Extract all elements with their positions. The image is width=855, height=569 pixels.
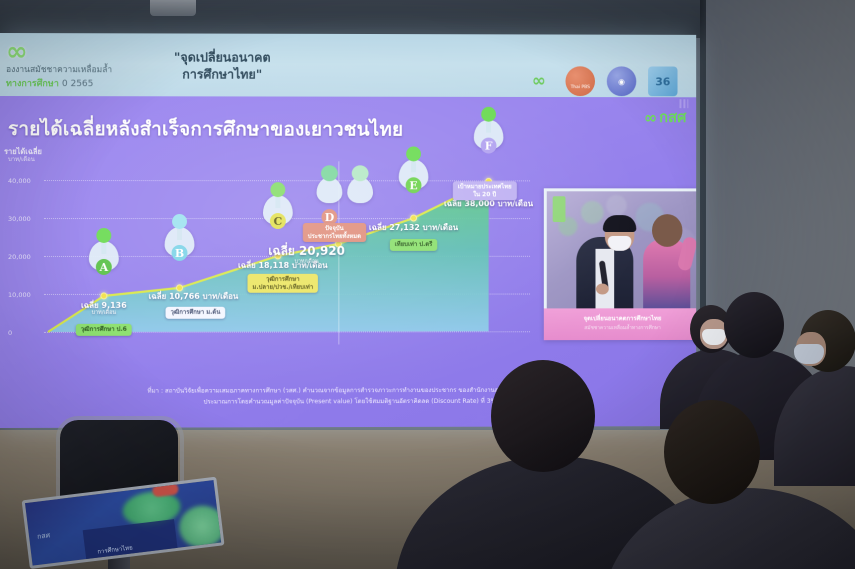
laptop-text-1: กสศ [37, 530, 51, 542]
eef-mark-icon: ◉ [618, 77, 625, 86]
avatar-C-neck [275, 197, 280, 208]
value-label-E: เฉลี่ย 27,132 บาท/เดือน [369, 223, 458, 232]
value-label-B-text: เฉลี่ย 10,766 บาท/เดือน [149, 292, 239, 301]
avatar-F-badge: F [481, 138, 497, 154]
education-tag-B: วุฒิการศึกษา ม.ต้น [166, 307, 226, 319]
partner-logo-row: ∞ กสศ Thai PBS ◉ กองทุนฯ 36 [524, 66, 677, 96]
value-label-F-text: เฉลี่ย 38,000 บาท/เดือน [444, 199, 533, 208]
avatar-B-badge: B [172, 245, 188, 261]
kosok-mark-icon: ∞ [532, 71, 546, 91]
pip-caption-line-2: สมัชชาความเหลื่อมล้ำทางการศึกษา [544, 324, 696, 332]
avatar-B-body: B [165, 227, 195, 257]
avatar-B-neck [177, 229, 182, 240]
avatar-A-badge: A [96, 259, 112, 275]
slide-title: รายได้เฉลี่ยหลังสำเร็จการศึกษาของเยาวชนไ… [8, 114, 403, 144]
partner-logo-eef: ◉ กองทุนฯ [607, 66, 636, 96]
foreground-head [491, 360, 595, 472]
avatar-D: D [317, 177, 343, 203]
avatar-C-body: C [263, 195, 293, 225]
avatar-F-body: F [474, 120, 504, 150]
avatar-D-body: D [317, 177, 343, 203]
slide-brand-text: กสศ [659, 105, 686, 129]
avatar-E-body: E [399, 159, 429, 189]
value-label-D-unit: บาท/เดือน [268, 259, 344, 265]
organizer-year: 0 2565 [62, 80, 93, 90]
avatar-E: E [399, 159, 429, 189]
value-label-A-text: เฉลี่ย 9,136 [81, 301, 127, 310]
pip-speaker-hair [603, 215, 636, 232]
audience-2-head [724, 292, 784, 358]
event-title-line-2: การศึกษาไทย" [118, 66, 327, 83]
avatar-A-neck [101, 243, 106, 254]
partner-logo-news360: 36 [648, 66, 677, 96]
education-tag-C: วุฒิการศึกษาม.ปลาย/ปวช./เทียบเท่า [247, 274, 318, 293]
chart-plot-area: A B C [44, 161, 530, 331]
avatar-D-head [321, 165, 338, 181]
slide-brand-logo: ∞ กสศ [644, 105, 686, 129]
pip-speaker-hand [596, 284, 609, 295]
avatar-D-partner [347, 177, 373, 203]
y-tick-0: 0 [8, 329, 12, 337]
data-point-B [176, 284, 183, 291]
avatar-C-badge: C [270, 213, 286, 229]
education-tag-F: เป้าหมายประเทศไทยใน 20 ปี [453, 181, 517, 200]
value-label-B: เฉลี่ย 10,766 บาท/เดือน [149, 292, 239, 301]
organizer-subject: ทางการศึกษา [6, 79, 59, 89]
avatar-A-head [96, 228, 111, 243]
conference-room-photo: ∞ องงานสมัชชาความเหลื่อมล้ำ ทางการศึกษา … [0, 0, 855, 569]
slide-brand-mark-icon: ∞ [644, 108, 656, 127]
projector-mount [150, 0, 196, 16]
laptop-slide-accent [152, 482, 179, 497]
pip-caption-line-1: จุดเปลี่ยนอนาคตการศึกษาไทย [544, 313, 696, 323]
pip-corner-tag [553, 196, 566, 222]
value-label-A-unit: บาท/เดือน [81, 310, 127, 316]
event-title-line-1: "จุดเปลี่ยนอนาคต [118, 49, 327, 66]
y-tick-40000: 40,000 [8, 177, 31, 185]
avatar-A-body: A [89, 241, 119, 271]
pip-caption-bar: จุดเปลี่ยนอนาคตการศึกษาไทย สมัชชาความเหล… [544, 308, 696, 340]
y-axis-title-unit: บาท/เดือน [4, 156, 42, 164]
avatar-C-head [270, 182, 285, 197]
data-point-A [100, 292, 107, 299]
partner-logo-thaipbs: Thai PBS [565, 66, 595, 96]
partner-label-thaipbs: Thai PBS [571, 85, 590, 90]
avatar-E-head [406, 146, 421, 161]
avatar-C: C [263, 195, 293, 225]
avatar-E-badge: E [406, 177, 422, 193]
event-title: "จุดเปลี่ยนอนาคต การศึกษาไทย" [118, 49, 327, 83]
foreground-right-head [664, 400, 760, 504]
partner-logo-kosok: ∞ กสศ [524, 66, 554, 96]
y-axis-title-main: รายได้เฉลี่ย [4, 147, 42, 156]
laptop-slide-graphic-2 [177, 503, 225, 550]
deck-header-band: ∞ องงานสมัชชาความเหลื่อมล้ำ ทางการศึกษา … [0, 33, 696, 101]
value-label-D-text: เฉลี่ย 20,920 [268, 244, 344, 258]
avatar-B: B [165, 227, 195, 257]
projection-screen: ∞ องงานสมัชชาความเหลื่อมล้ำ ทางการศึกษา … [0, 33, 696, 428]
education-tag-A: วุฒิการศึกษา ป.6 [76, 324, 132, 336]
news360-mark-icon: 36 [655, 75, 670, 88]
avatar-E-neck [411, 161, 416, 172]
avatar-F-head [481, 107, 496, 122]
education-tag-D: ปัจจุบันประชากรไทยทั้งหมด [303, 223, 366, 242]
avatar-A: A [89, 241, 119, 271]
avatar-F: F [474, 120, 504, 150]
avatar-B-head [172, 214, 187, 229]
avatar-D2-body [347, 177, 373, 203]
value-label-A: เฉลี่ย 9,136 บาท/เดือน [81, 301, 127, 317]
value-label-F: เฉลี่ย 38,000 บาท/เดือน [444, 199, 533, 208]
pip-video-frame [547, 191, 696, 308]
pip-child-head [652, 214, 682, 247]
y-axis-title: รายได้เฉลี่ย บาท/เดือน [4, 147, 42, 164]
avatar-F-neck [486, 122, 491, 133]
avatar-D2-head [352, 165, 369, 181]
education-tag-E: เทียบเท่า ป.ตรี [390, 239, 437, 250]
y-tick-30000: 30,000 [8, 215, 31, 223]
value-label-E-text: เฉลี่ย 27,132 บาท/เดือน [369, 223, 458, 232]
value-label-D: เฉลี่ย 20,920 บาท/เดือน [268, 245, 344, 265]
y-tick-20000: 20,000 [8, 253, 31, 261]
picture-in-picture-video: จุดเปลี่ยนอนาคตการศึกษาไทย สมัชชาความเหล… [544, 188, 696, 340]
face-mask-icon [794, 344, 824, 364]
data-point-E [410, 215, 417, 222]
y-tick-10000: 10,000 [8, 291, 31, 299]
